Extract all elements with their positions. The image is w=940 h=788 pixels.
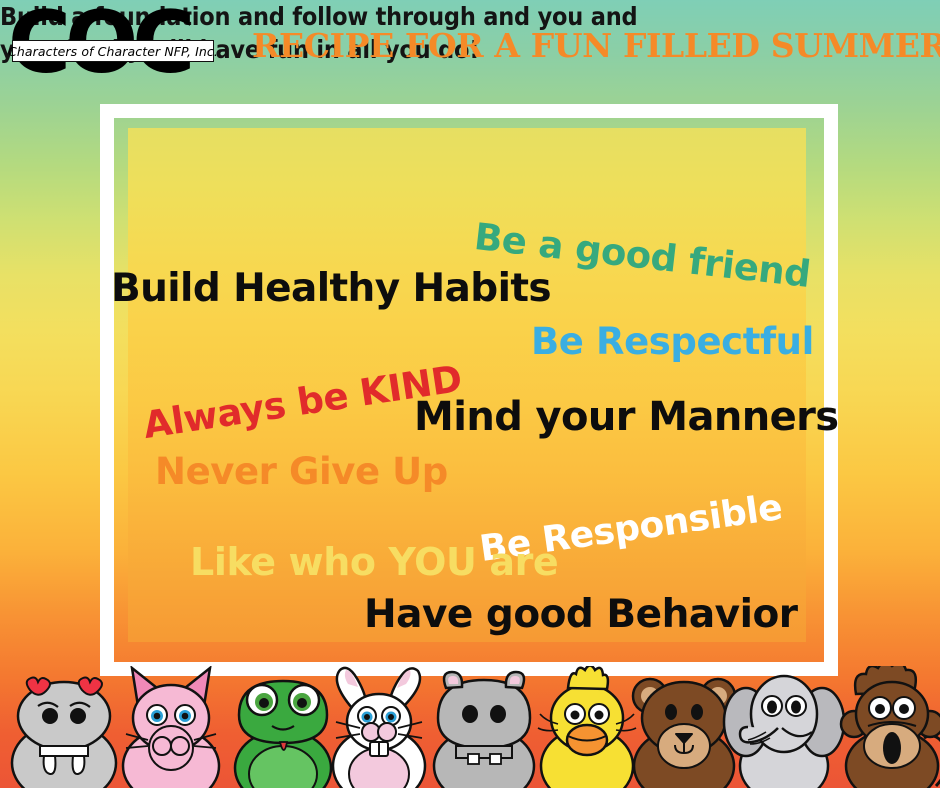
- phrase-build-healthy-habits: Build Healthy Habits: [111, 266, 551, 313]
- poster-headline: RECIPE FOR A FUN FILLED SUMMER: [252, 26, 940, 65]
- coc-logo: COC Characters of Character NFP, Inc.: [8, 6, 220, 90]
- gray-elephant-character: [722, 666, 846, 788]
- gray-hippo-character: [424, 670, 544, 788]
- phrase-mind-your-manners: Mind your Manners: [414, 393, 838, 441]
- pink-cat-character: [110, 666, 232, 788]
- phrase-be-respectful: Be Respectful: [531, 320, 814, 364]
- coc-logo-band-text: Characters of Character NFP, Inc.: [8, 44, 218, 59]
- brown-monkey-character: [836, 666, 940, 788]
- coc-logo-band: Characters of Character NFP, Inc.: [12, 40, 214, 62]
- phrase-have-good-behavior: Have good Behavior: [364, 592, 797, 639]
- hippo-heart-ears-character: [4, 668, 124, 788]
- white-rabbit-character: [318, 664, 440, 788]
- poster-canvas: COC Characters of Character NFP, Inc. RE…: [0, 0, 940, 788]
- phrase-never-give-up: Never Give Up: [155, 450, 448, 494]
- phrase-like-who-you-are: Like who YOU are: [190, 540, 558, 586]
- mascot-row: [0, 668, 940, 788]
